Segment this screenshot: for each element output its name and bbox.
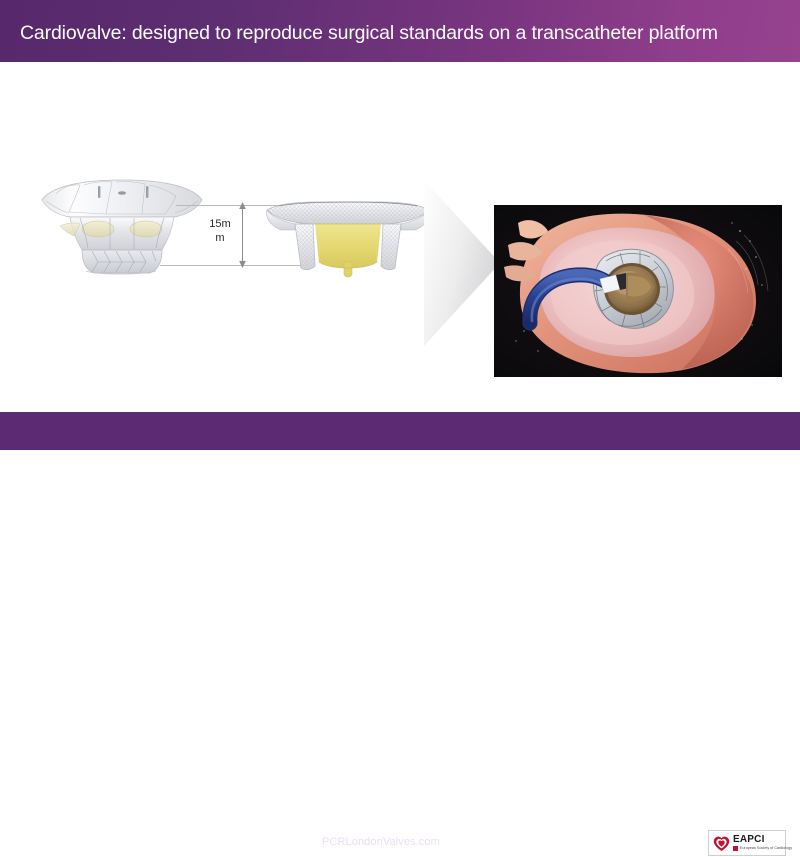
esc-square-icon [733, 846, 738, 851]
valve-cross-section-image [265, 194, 431, 280]
logo-divider [28, 829, 30, 857]
eapci-name: EAPCI [733, 835, 792, 845]
dimension-label: 15m m [203, 217, 237, 245]
eapci-heart-icon [713, 835, 730, 852]
dimension-value: 15m [209, 218, 230, 230]
dimension-value-wrap: m [215, 232, 224, 244]
anatomical-illustration [494, 205, 782, 377]
eapci-subtitle-row: European Society of Cardiology [733, 846, 792, 851]
logo-year: 2022 [16, 829, 27, 857]
dimension-arrow-icon [236, 202, 249, 268]
slide-header-band: Cardiovalve: designed to reproduce surgi… [0, 0, 800, 62]
slide-footer-band: 2022 PCR london valves PCRLondonValves.c… [0, 412, 800, 450]
eapci-logo: EAPCI European Society of Cardiology [708, 830, 786, 856]
logo-main-text: PCR [33, 829, 99, 846]
slide-content-area: 15m m [0, 62, 800, 412]
eapci-subtitle: European Society of Cardiology [740, 846, 792, 851]
pcr-london-valves-logo: 2022 PCR london valves [16, 829, 99, 857]
page-title: Cardiovalve: designed to reproduce surgi… [20, 20, 780, 46]
eapci-text-block: EAPCI European Society of Cardiology [733, 835, 792, 851]
transition-arrow-icon [424, 180, 500, 346]
logo-wordmark: PCR london valves [33, 829, 99, 857]
footer-website-url[interactable]: PCRLondonValves.com [322, 836, 440, 848]
logo-sub-text: london valves [33, 846, 99, 857]
